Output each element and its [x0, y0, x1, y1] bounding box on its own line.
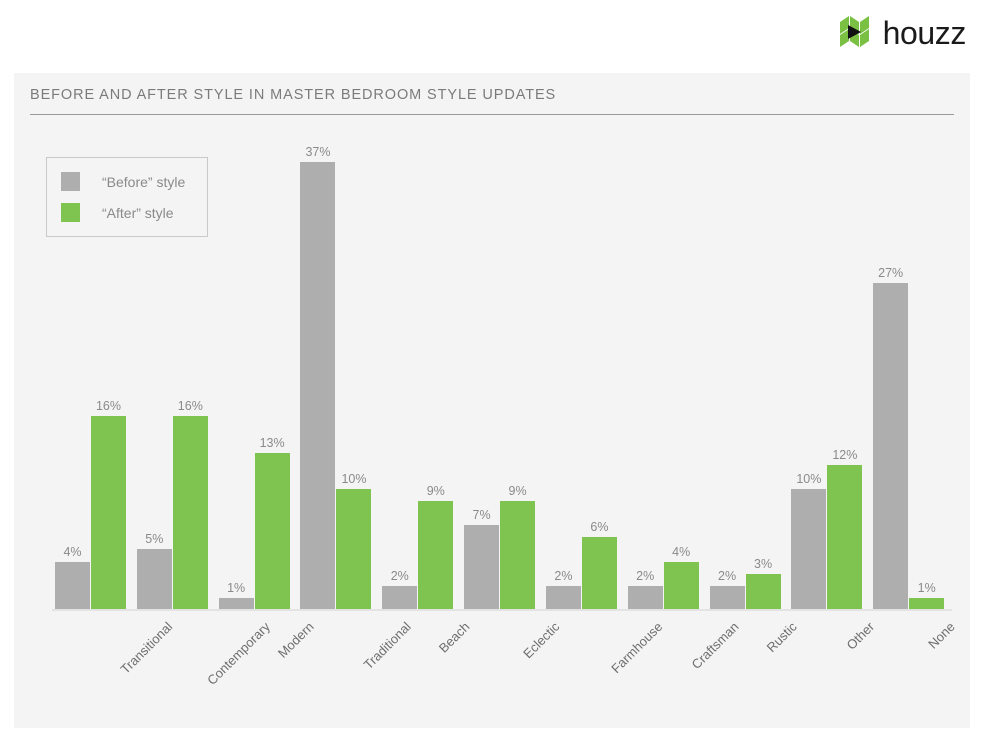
bar-value-label: 9%: [427, 484, 445, 498]
houzz-logo[interactable]: houzz: [840, 16, 966, 53]
x-axis-labels: TransitionalContemporaryModernTraditiona…: [52, 613, 952, 723]
bar-rect: [91, 416, 126, 610]
bar-rect: [464, 525, 499, 610]
bar-before[interactable]: 7%: [464, 133, 499, 610]
bar-value-label: 27%: [878, 266, 903, 280]
bar-after[interactable]: 3%: [746, 133, 781, 610]
bar-rect: [418, 501, 453, 610]
x-axis-label: Modern: [275, 619, 317, 661]
x-axis-label: Craftsman: [688, 619, 741, 672]
bar-value-label: 10%: [796, 472, 821, 486]
bar-value-label: 2%: [554, 569, 572, 583]
bar-group: 2%6%: [546, 133, 618, 610]
bar-rect: [791, 489, 826, 610]
x-axis-label: Farmhouse: [608, 619, 665, 676]
houzz-wordmark: houzz: [883, 17, 966, 52]
bar-value-label: 6%: [590, 520, 608, 534]
bar-rect: [500, 501, 535, 610]
bar-value-label: 2%: [636, 569, 654, 583]
bar-rect: [746, 574, 781, 610]
bar-rect: [582, 537, 617, 610]
x-axis-label: None: [925, 619, 958, 652]
axis-baseline: [52, 609, 952, 611]
bar-group: 4%16%: [55, 133, 127, 610]
bar-group: 10%12%: [791, 133, 863, 610]
bar-group: 7%9%: [464, 133, 536, 610]
bar-rect: [628, 586, 663, 610]
bar-group: 1%13%: [219, 133, 291, 610]
title-divider: [30, 114, 954, 115]
x-axis-label: Rustic: [763, 619, 799, 655]
x-axis-label: Traditional: [361, 619, 414, 672]
bar-rect: [873, 283, 908, 610]
chart-panel: BEFORE AND AFTER STYLE IN MASTER BEDROOM…: [14, 73, 970, 728]
bar-group: 5%16%: [137, 133, 209, 610]
bar-rect: [664, 562, 699, 610]
bar-value-label: 4%: [672, 545, 690, 559]
bar-after[interactable]: 9%: [418, 133, 453, 610]
bar-rect: [710, 586, 745, 610]
bar-before[interactable]: 10%: [791, 133, 826, 610]
x-axis-label: Other: [844, 619, 878, 653]
plot-area: 4%16%5%16%1%13%37%10%2%9%7%9%2%6%2%4%2%3…: [52, 133, 952, 610]
bar-value-label: 16%: [178, 399, 203, 413]
bar-after[interactable]: 13%: [255, 133, 290, 610]
bar-after[interactable]: 12%: [827, 133, 862, 610]
bar-after[interactable]: 9%: [500, 133, 535, 610]
bar-value-label: 9%: [509, 484, 527, 498]
bar-group: 37%10%: [300, 133, 372, 610]
bar-value-label: 3%: [754, 557, 772, 571]
bar-rect: [137, 549, 172, 610]
x-axis-label: Transitional: [118, 619, 176, 677]
bar-value-label: 13%: [260, 436, 285, 450]
bar-group: 2%3%: [710, 133, 782, 610]
bar-group: 2%9%: [382, 133, 454, 610]
bar-value-label: 2%: [718, 569, 736, 583]
bar-before[interactable]: 37%: [300, 133, 335, 610]
houzz-logo-mark-icon: [840, 16, 874, 53]
bar-rect: [336, 489, 371, 610]
chart-title: BEFORE AND AFTER STYLE IN MASTER BEDROOM…: [30, 87, 556, 103]
bar-before[interactable]: 2%: [710, 133, 745, 610]
x-axis-label: Contemporary: [204, 619, 273, 688]
bar-after[interactable]: 16%: [91, 133, 126, 610]
bar-value-label: 7%: [473, 508, 491, 522]
bar-before[interactable]: 27%: [873, 133, 908, 610]
bar-value-label: 16%: [96, 399, 121, 413]
bar-value-label: 1%: [918, 581, 936, 595]
bar-after[interactable]: 1%: [909, 133, 944, 610]
bar-value-label: 10%: [341, 472, 366, 486]
bar-rect: [546, 586, 581, 610]
bar-value-label: 37%: [305, 145, 330, 159]
bar-before[interactable]: 1%: [219, 133, 254, 610]
bar-before[interactable]: 2%: [546, 133, 581, 610]
bar-after[interactable]: 4%: [664, 133, 699, 610]
bar-before[interactable]: 5%: [137, 133, 172, 610]
bar-rect: [300, 162, 335, 610]
bar-value-label: 4%: [63, 545, 81, 559]
bar-value-label: 2%: [391, 569, 409, 583]
bar-before[interactable]: 2%: [628, 133, 663, 610]
bar-rect: [255, 453, 290, 610]
bar-rect: [55, 562, 90, 610]
bar-after[interactable]: 10%: [336, 133, 371, 610]
bar-value-label: 1%: [227, 581, 245, 595]
brand-header: houzz: [0, 0, 990, 73]
bar-before[interactable]: 2%: [382, 133, 417, 610]
x-axis-label: Beach: [436, 619, 473, 656]
bar-group: 2%4%: [628, 133, 700, 610]
bar-group: 27%1%: [873, 133, 945, 610]
bar-rect: [827, 465, 862, 610]
bar-after[interactable]: 16%: [173, 133, 208, 610]
bar-before[interactable]: 4%: [55, 133, 90, 610]
bar-after[interactable]: 6%: [582, 133, 617, 610]
bar-rect: [173, 416, 208, 610]
x-axis-label: Eclectic: [520, 619, 562, 661]
bar-value-label: 5%: [145, 532, 163, 546]
bar-value-label: 12%: [832, 448, 857, 462]
bar-rect: [382, 586, 417, 610]
